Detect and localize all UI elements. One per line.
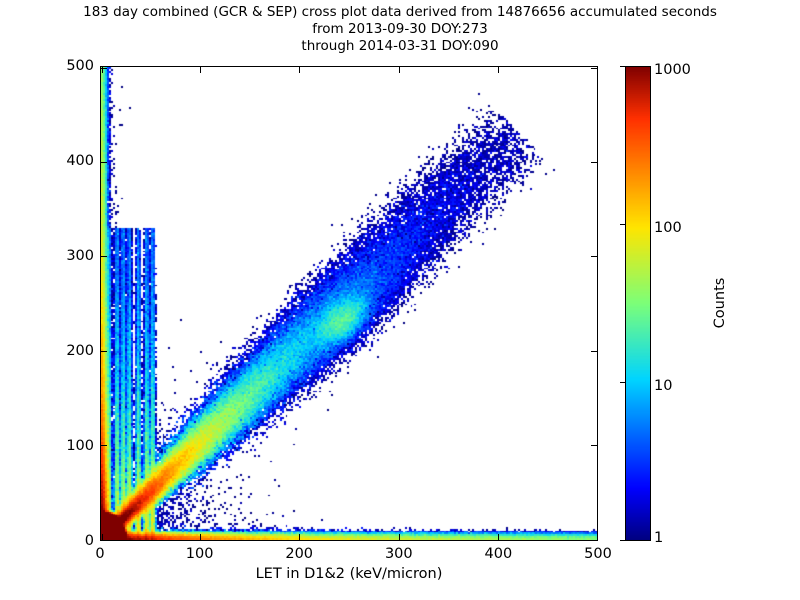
x-axis-tick-mark: [102, 534, 103, 540]
colorbar-title: Counts: [712, 203, 728, 403]
colorbar-tick-mark: [620, 540, 625, 541]
x-axis-tick-mark: [399, 534, 400, 540]
x-tick-label-400: 400: [485, 546, 513, 562]
x-axis-tick-mark: [102, 67, 103, 73]
density-scatter-plot: [101, 67, 597, 540]
x-tick-label-0: 0: [95, 546, 104, 562]
x-axis-tick-mark: [200, 534, 201, 540]
colorbar-tick-mark: [620, 224, 625, 225]
y-axis-tick-mark: [101, 351, 107, 352]
colorbar-gradient: [625, 66, 651, 541]
y-axis-tick-mark: [591, 351, 597, 352]
y-axis-tick-mark: [591, 162, 597, 163]
x-tick-label-300: 300: [385, 546, 413, 562]
y-axis-tick-mark: [591, 445, 597, 446]
x-tick-label-100: 100: [186, 546, 214, 562]
chart-title: 183 day combined (GCR & SEP) cross plot …: [0, 4, 800, 55]
y-tick-label-500: 500: [66, 58, 94, 74]
chart-title-line-1: 183 day combined (GCR & SEP) cross plot …: [0, 4, 800, 21]
colorbar-tick-label-1000: 1000: [654, 62, 691, 78]
y-tick-label-200: 200: [66, 343, 94, 359]
x-tick-label-200: 200: [285, 546, 313, 562]
y-tick-label-300: 300: [66, 248, 94, 264]
y-tick-label-100: 100: [66, 438, 94, 454]
x-axis-tick-mark: [399, 67, 400, 73]
x-axis-tick-mark: [498, 67, 499, 73]
colorbar-tick-mark: [620, 382, 625, 383]
chart-title-line-2: from 2013-09-30 DOY:273: [0, 21, 800, 38]
colorbar: [625, 66, 651, 541]
y-axis-tick-mark: [101, 445, 107, 446]
x-axis-tick-mark: [200, 67, 201, 73]
chart-title-line-3: through 2014-03-31 DOY:090: [0, 38, 800, 55]
x-axis-tick-mark: [498, 534, 499, 540]
plot-area: [100, 66, 598, 541]
x-axis-tick-mark: [299, 67, 300, 73]
y-axis-tick-mark: [101, 162, 107, 163]
x-axis-tick-mark: [597, 534, 598, 540]
figure-canvas: 183 day combined (GCR & SEP) cross plot …: [0, 0, 800, 600]
y-axis-tick-mark: [101, 256, 107, 257]
x-axis-title: LET in D1&2 (keV/micron): [100, 566, 598, 582]
colorbar-tick-label-10: 10: [654, 378, 672, 394]
colorbar-tick-label-1: 1: [654, 530, 663, 546]
x-axis-tick-mark: [299, 534, 300, 540]
colorbar-tick-label-100: 100: [654, 220, 682, 236]
colorbar-tick-mark: [620, 66, 625, 67]
y-tick-label-400: 400: [66, 153, 94, 169]
x-tick-label-500: 500: [584, 546, 612, 562]
x-axis-tick-mark: [597, 67, 598, 73]
y-axis-tick-mark: [591, 256, 597, 257]
y-tick-label-0: 0: [85, 533, 94, 549]
